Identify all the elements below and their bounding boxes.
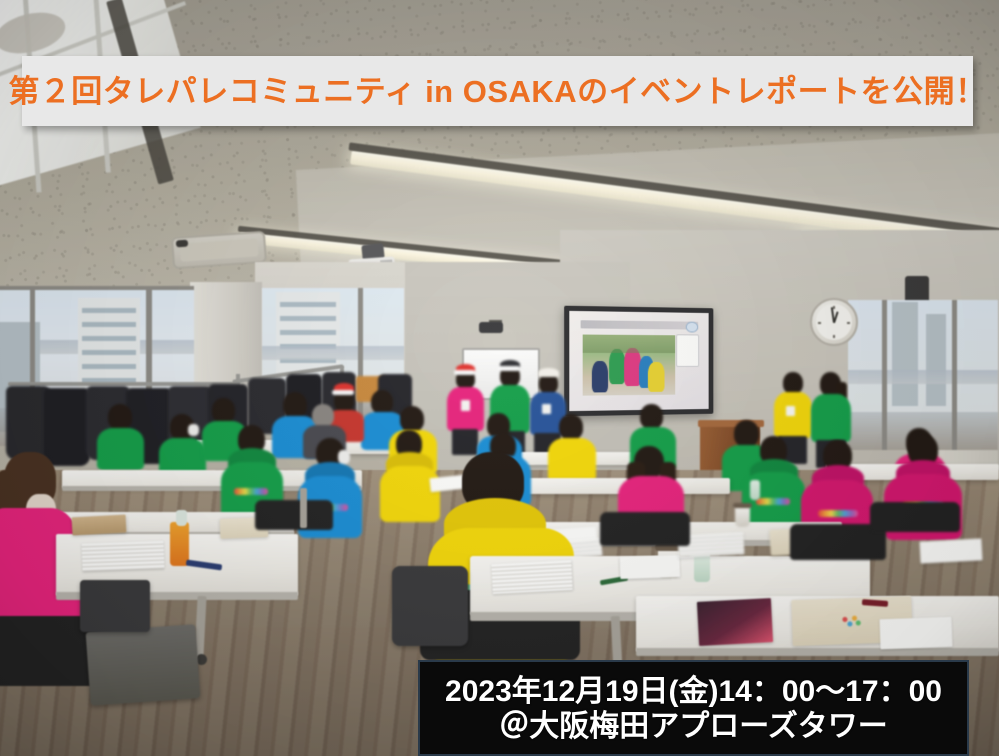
- title-banner: 第２回タレパレコミュニティ in OSAKAのイベントレポートを公開！: [22, 56, 973, 126]
- event-datetime-line: 2023年12月19日(金)14：00〜17：00: [445, 674, 942, 709]
- event-venue-line: ＠大阪梅田アプローズタワー: [499, 709, 888, 744]
- event-details-caption: 2023年12月19日(金)14：00〜17：00 ＠大阪梅田アプローズタワー: [418, 660, 969, 756]
- title-text: 第２回タレパレコミュニティ in OSAKAのイベントレポートを公開！: [8, 76, 986, 107]
- event-banner-image: 第２回タレパレコミュニティ in OSAKAのイベントレポートを公開！ 2023…: [0, 0, 999, 756]
